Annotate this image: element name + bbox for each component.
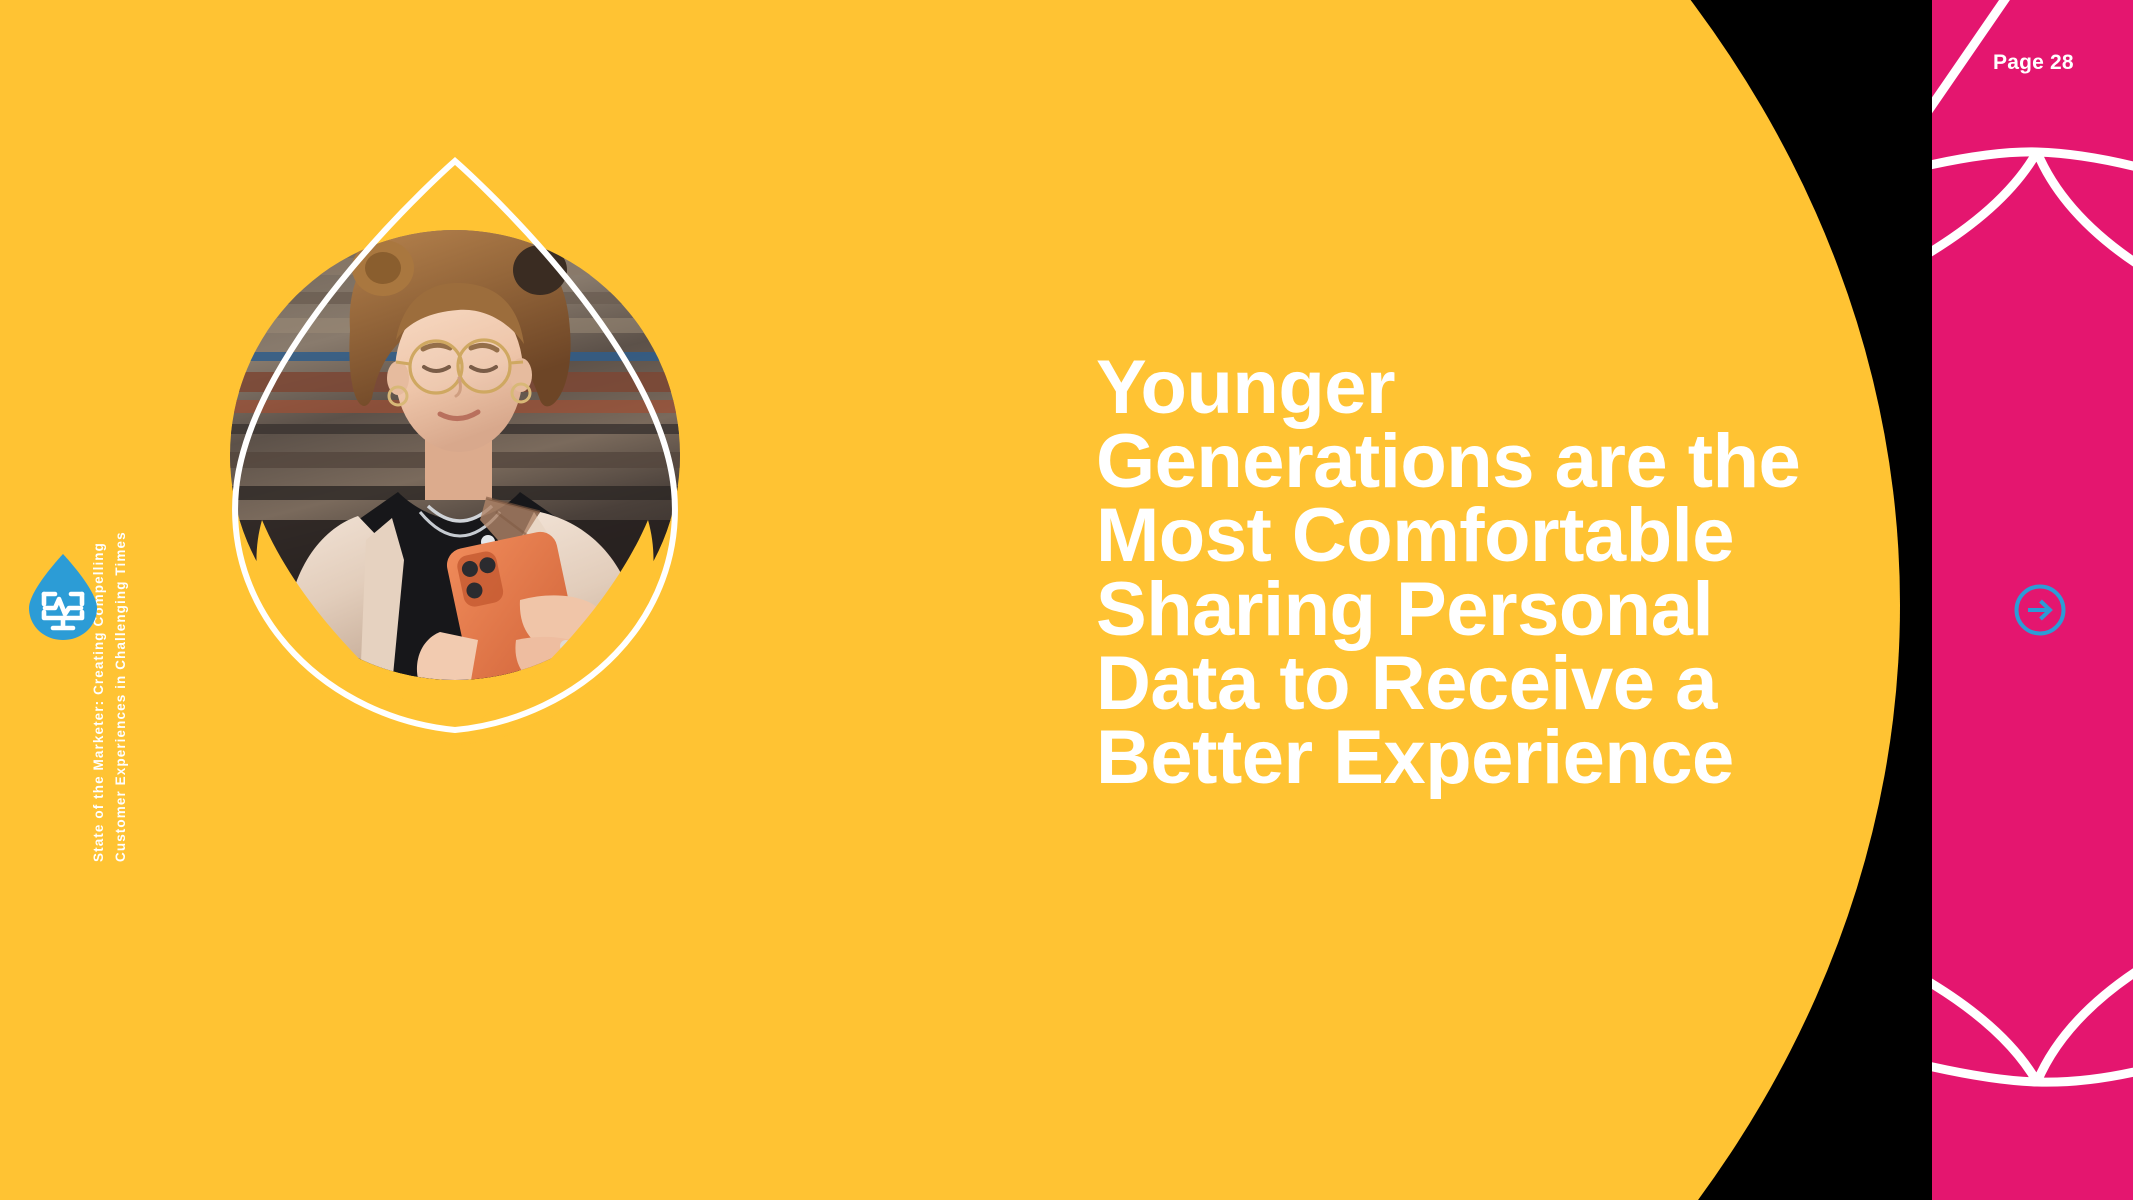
next-arrow-icon[interactable]: Next slide [2012, 582, 2068, 638]
slide-canvas: Page 28 Next slide [0, 0, 2133, 1200]
page-title: Younger Generations are the Most Comfort… [1096, 351, 1956, 795]
hero-photo-svg [0, 0, 900, 900]
right-magenta-panel: Page 28 Next slide [1932, 0, 2133, 1200]
page-number: Page 28 [1993, 51, 2074, 75]
hero-photo-group [0, 0, 900, 900]
acquia-droplet-logo-icon[interactable]: acquia-droplet-logo [25, 552, 101, 642]
